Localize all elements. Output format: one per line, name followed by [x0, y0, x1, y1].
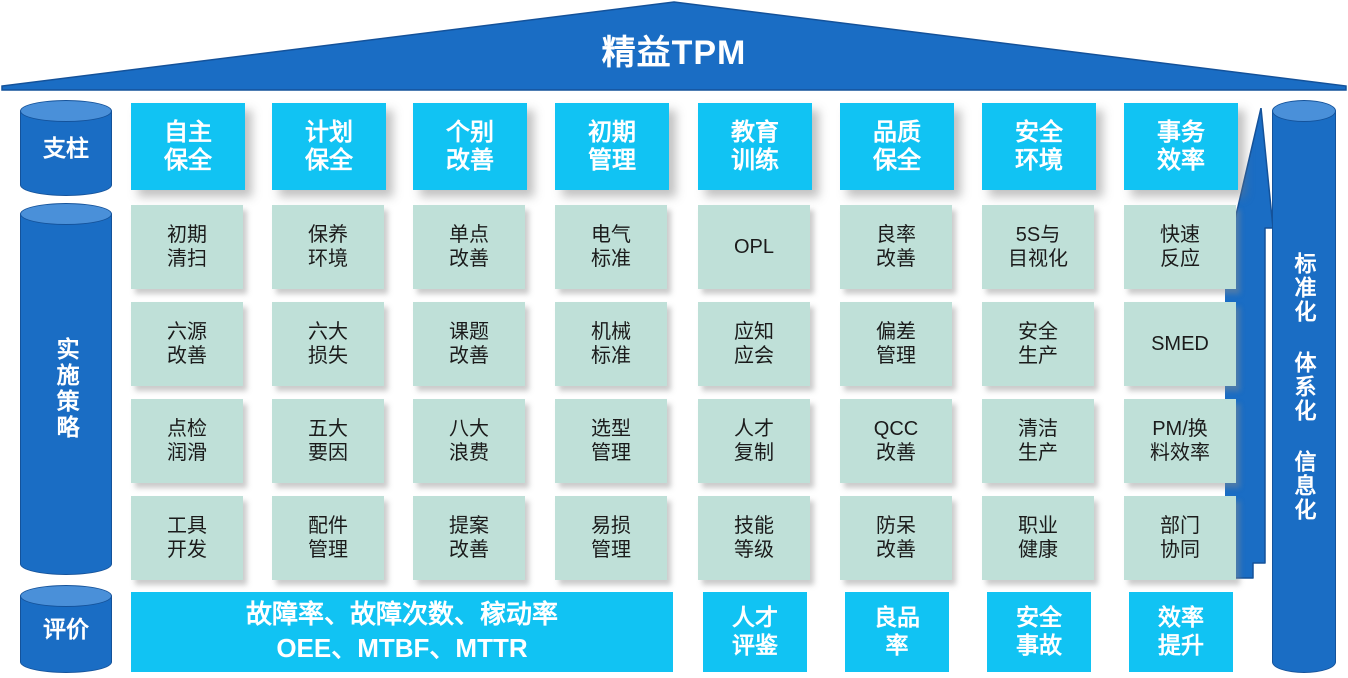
pillar-cell-c8-r4[interactable]: 部门 协同 [1124, 496, 1236, 580]
pillar-cell-label: 机械 标准 [591, 320, 631, 368]
pillar-cell-c7-r3[interactable]: 清洁 生产 [982, 399, 1094, 483]
pillar-cell-label: 保养 环境 [308, 223, 348, 271]
pillar-cell-label: 应知 应会 [734, 320, 774, 368]
evaluation-box-talent[interactable]: 人才 评鉴 [703, 592, 807, 672]
pillar-cell-c7-r2[interactable]: 安全 生产 [982, 302, 1094, 386]
pillar-cell-label: 提案 改善 [449, 514, 489, 562]
pillar-cell-c2-r4[interactable]: 配件 管理 [272, 496, 384, 580]
pillar-cell-c6-r2[interactable]: 偏差 管理 [840, 302, 952, 386]
evaluation-box-metrics-label: 故障率、故障次数、稼动率 OEE、MTBF、MTTR [246, 598, 558, 666]
pillar-header-2[interactable]: 计划 保全 [272, 103, 386, 190]
pillar-cell-label: 清洁 生产 [1018, 417, 1058, 465]
pillar-cell-c5-r3[interactable]: 人才 复制 [698, 399, 810, 483]
pillar-cell-label: 技能 等级 [734, 514, 774, 562]
pillar-header-5[interactable]: 教育 训练 [698, 103, 812, 190]
pillar-cell-label: 八大 浪费 [449, 417, 489, 465]
pillar-header-7-label: 安全 环境 [1015, 119, 1063, 174]
pillar-cell-label: 六源 改善 [167, 320, 207, 368]
evaluation-box-talent-label: 人才 评鉴 [732, 604, 778, 659]
pillar-cell-c1-r3[interactable]: 点检 润滑 [131, 399, 243, 483]
pillar-cell-c1-r2[interactable]: 六源 改善 [131, 302, 243, 386]
left-cylinder-pillar-label: 支柱 [20, 100, 112, 196]
pillar-cell-c5-r4[interactable]: 技能 等级 [698, 496, 810, 580]
pillar-cell-label: 偏差 管理 [876, 320, 916, 368]
pillar-cell-label: 5S与 目视化 [1008, 223, 1068, 271]
pillar-cell-c3-r4[interactable]: 提案 改善 [413, 496, 525, 580]
pillar-header-8[interactable]: 事务 效率 [1124, 103, 1238, 190]
pillar-cell-label: SMED [1151, 332, 1209, 356]
pillar-cell-label: PM/换 料效率 [1150, 417, 1210, 465]
pillar-header-6[interactable]: 品质 保全 [840, 103, 954, 190]
left-cylinder-strategy-label: 实施策略 [20, 203, 112, 575]
pillar-header-6-label: 品质 保全 [873, 119, 921, 174]
pillar-cell-label: 点检 润滑 [167, 417, 207, 465]
pillar-cell-c5-r2[interactable]: 应知 应会 [698, 302, 810, 386]
pillar-header-4-label: 初期 管理 [588, 119, 636, 174]
pillar-cell-c4-r4[interactable]: 易损 管理 [555, 496, 667, 580]
pillar-header-1[interactable]: 自主 保全 [131, 103, 245, 190]
pillar-cell-c8-r1[interactable]: 快速 反应 [1124, 205, 1236, 289]
pillar-cell-label: 工具 开发 [167, 514, 207, 562]
pillar-cell-c6-r4[interactable]: 防呆 改善 [840, 496, 952, 580]
pillar-cell-label: 单点 改善 [449, 223, 489, 271]
pillar-cell-label: 六大 损失 [308, 320, 348, 368]
pillar-cell-label: 配件 管理 [308, 514, 348, 562]
pillar-cell-c4-r1[interactable]: 电气 标准 [555, 205, 667, 289]
pillar-header-5-label: 教育 训练 [731, 119, 779, 174]
pillar-cell-c8-r2[interactable]: SMED [1124, 302, 1236, 386]
pillar-cell-c4-r3[interactable]: 选型 管理 [555, 399, 667, 483]
left-cylinder-strategy: 实施策略 [20, 203, 112, 575]
pillar-header-3-label: 个别 改善 [446, 119, 494, 174]
pillar-cell-c7-r1[interactable]: 5S与 目视化 [982, 205, 1094, 289]
right-cylinder-standardization: 标准化 体系化 信息化 [1272, 100, 1336, 673]
pillar-cell-label: 职业 健康 [1018, 514, 1058, 562]
pillar-cell-c5-r1[interactable]: OPL [698, 205, 810, 289]
pillar-header-1-label: 自主 保全 [164, 119, 212, 174]
pillar-cell-label: 五大 要因 [308, 417, 348, 465]
pillar-cell-label: 选型 管理 [591, 417, 631, 465]
tpm-house-diagram: 精益TPM 支柱 实施策略 评价 标准化 体系化 信息化 [0, 0, 1348, 678]
evaluation-box-efficiency-label: 效率 提升 [1158, 604, 1204, 659]
pillar-cell-c6-r1[interactable]: 良率 改善 [840, 205, 952, 289]
pillar-cell-c3-r3[interactable]: 八大 浪费 [413, 399, 525, 483]
pillar-cell-c2-r1[interactable]: 保养 环境 [272, 205, 384, 289]
pillar-cell-c1-r1[interactable]: 初期 清扫 [131, 205, 243, 289]
pillar-cell-c4-r2[interactable]: 机械 标准 [555, 302, 667, 386]
right-cylinder-label: 标准化 体系化 信息化 [1272, 100, 1336, 673]
pillar-header-3[interactable]: 个别 改善 [413, 103, 527, 190]
evaluation-box-yield-label: 良品 率 [874, 604, 920, 659]
evaluation-box-efficiency[interactable]: 效率 提升 [1129, 592, 1233, 672]
pillar-cell-c3-r1[interactable]: 单点 改善 [413, 205, 525, 289]
left-cylinder-pillar: 支柱 [20, 100, 112, 196]
left-cylinder-evaluation: 评价 [20, 585, 112, 673]
up-arrow-icon [1225, 108, 1277, 668]
pillar-cell-label: 人才 复制 [734, 417, 774, 465]
pillar-header-8-label: 事务 效率 [1157, 119, 1205, 174]
pillar-cell-label: 防呆 改善 [876, 514, 916, 562]
pillar-cell-c7-r4[interactable]: 职业 健康 [982, 496, 1094, 580]
roof-triangle: 精益TPM [0, 0, 1348, 92]
pillar-cell-label: 易损 管理 [591, 514, 631, 562]
left-cylinder-evaluation-label: 评价 [20, 585, 112, 673]
pillar-cell-label: 良率 改善 [876, 223, 916, 271]
pillar-cell-label: 课题 改善 [449, 320, 489, 368]
pillar-cell-c6-r3[interactable]: QCC 改善 [840, 399, 952, 483]
evaluation-box-metrics[interactable]: 故障率、故障次数、稼动率 OEE、MTBF、MTTR [131, 592, 673, 672]
pillar-cell-label: 初期 清扫 [167, 223, 207, 271]
pillar-cell-c1-r4[interactable]: 工具 开发 [131, 496, 243, 580]
pillar-cell-label: QCC 改善 [874, 417, 918, 465]
pillar-cell-label: OPL [734, 235, 774, 259]
pillar-cell-label: 部门 协同 [1160, 514, 1200, 562]
pillar-header-7[interactable]: 安全 环境 [982, 103, 1096, 190]
pillar-cell-label: 快速 反应 [1160, 223, 1200, 271]
evaluation-box-yield[interactable]: 良品 率 [845, 592, 949, 672]
pillar-cell-label: 安全 生产 [1018, 320, 1058, 368]
evaluation-box-safety-label: 安全 事故 [1016, 604, 1062, 659]
pillar-cell-c8-r3[interactable]: PM/换 料效率 [1124, 399, 1236, 483]
pillar-header-4[interactable]: 初期 管理 [555, 103, 669, 190]
pillar-cell-label: 电气 标准 [591, 223, 631, 271]
pillar-cell-c2-r2[interactable]: 六大 损失 [272, 302, 384, 386]
pillar-cell-c2-r3[interactable]: 五大 要因 [272, 399, 384, 483]
evaluation-box-safety[interactable]: 安全 事故 [987, 592, 1091, 672]
pillar-cell-c3-r2[interactable]: 课题 改善 [413, 302, 525, 386]
pillar-header-2-label: 计划 保全 [305, 119, 353, 174]
